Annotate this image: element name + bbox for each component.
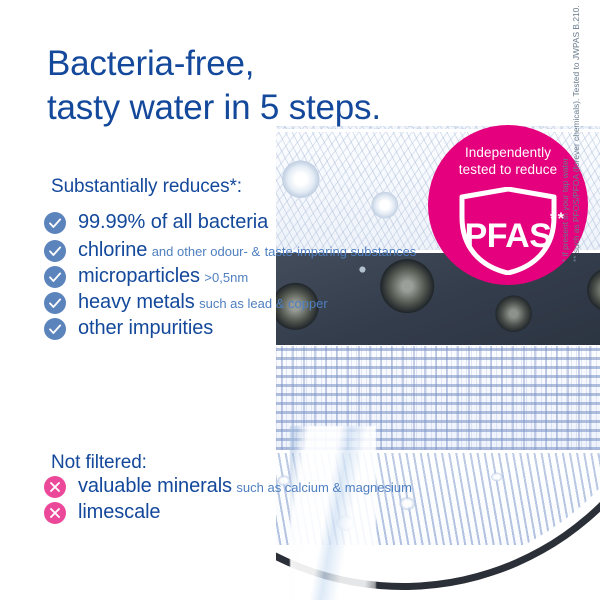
list-item: valuable minerals such as calcium & magn… <box>44 474 412 498</box>
list-item: 99.99% of all bacteria <box>44 210 416 234</box>
check-icon <box>44 318 66 340</box>
list-item-label: other impurities <box>78 317 213 339</box>
footnote-2: ** such as PFOS/PFOA (forever chemicals)… <box>571 0 582 262</box>
list-item-label: chlorine <box>78 239 147 261</box>
pfas-word: PFAS <box>465 219 552 253</box>
list-item-text: other impurities <box>78 316 213 340</box>
list-item: heavy metals such as lead & copper <box>44 290 416 314</box>
list-item-text: valuable minerals such as calcium & magn… <box>78 474 412 498</box>
list-item-sublabel: such as lead & copper <box>199 296 328 311</box>
list-item: chlorine and other odour- & taste-impari… <box>44 238 416 262</box>
list-item-label: valuable minerals <box>78 475 232 497</box>
cross-icon <box>44 476 66 498</box>
list-item-text: 99.99% of all bacteria <box>78 210 268 234</box>
check-icon <box>44 292 66 314</box>
check-icon <box>44 212 66 234</box>
list-item-text: limescale <box>78 500 160 524</box>
list-item: limescale <box>44 500 412 524</box>
list-item-text: heavy metals such as lead & copper <box>78 290 328 314</box>
not-filtered-section-title: Not filtered: <box>51 452 147 474</box>
badge-claim-line2: tested to reduce <box>459 162 557 177</box>
reduces-list: 99.99% of all bacteria chlorine and othe… <box>44 210 416 344</box>
check-icon <box>44 240 66 262</box>
list-item-sublabel: >0,5nm <box>204 270 248 285</box>
list-item-sublabel: such as calcium & magnesium <box>236 480 412 495</box>
list-item: microparticles >0,5nm <box>44 264 416 288</box>
page-title: Bacteria-free, tasty water in 5 steps. <box>47 42 477 130</box>
infographic-page: Independently tested to reduce PFAS ** B… <box>0 0 600 600</box>
list-item-text: chlorine and other odour- & taste-impari… <box>78 238 416 262</box>
headline-line1: Bacteria-free, <box>47 44 254 83</box>
list-item-text: microparticles >0,5nm <box>78 264 248 288</box>
headline-line2: tasty water in 5 steps. <box>47 86 477 130</box>
list-item-label: limescale <box>78 501 160 523</box>
reduces-section-title: Substantially reduces*: <box>51 176 242 198</box>
check-icon <box>44 266 66 288</box>
list-item-label: microparticles <box>78 265 200 287</box>
list-item-sublabel-2: taste-imparing substances <box>265 244 417 259</box>
list-item-label: 99.99% of all bacteria <box>78 211 268 233</box>
badge-claim-line1: Independently <box>465 145 551 160</box>
footnote-1: * if present in your tap water <box>560 0 571 262</box>
footnotes: * if present in your tap water ** such a… <box>560 0 594 262</box>
cross-icon <box>44 502 66 524</box>
list-item: other impurities <box>44 316 416 340</box>
list-item-sublabel: and other odour- & <box>152 244 260 259</box>
list-item-label: heavy metals <box>78 291 195 313</box>
not-filtered-list: valuable minerals such as calcium & magn… <box>44 474 412 528</box>
